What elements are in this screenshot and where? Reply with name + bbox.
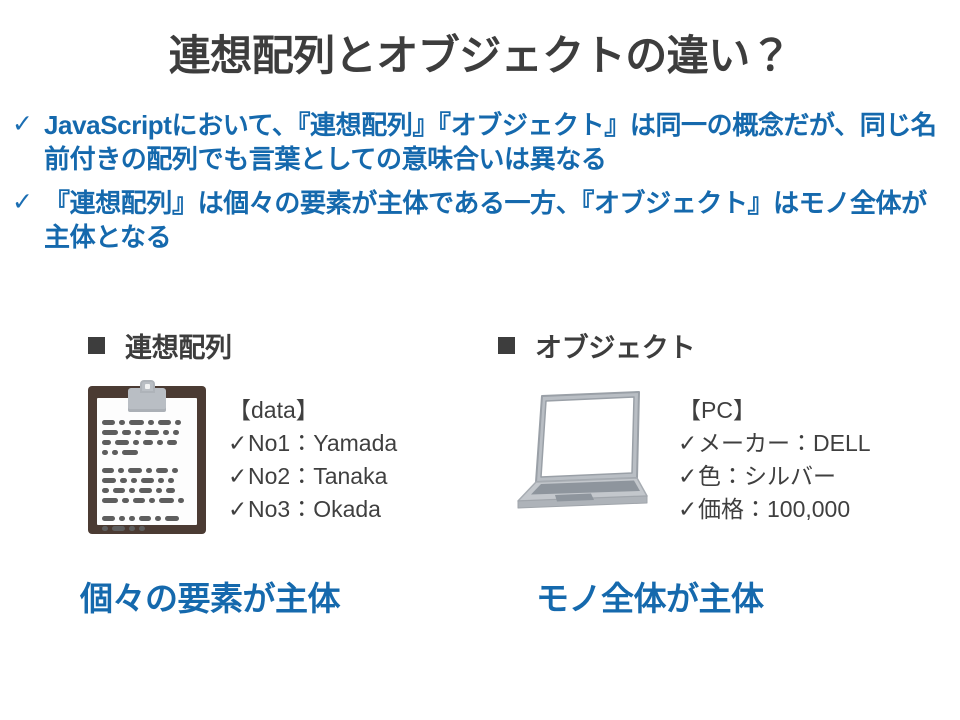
bullet-item: ✓ 『連想配列』は個々の要素が主体である一方、『オブジェクト』はモノ全体が主体と… [12, 186, 952, 254]
bullet-list: ✓ JavaScriptにおいて、『連想配列』『オブジェクト』は同一の概念だが、… [12, 108, 952, 264]
spec-item-label: 価格：100,000 [698, 496, 850, 522]
spec-item-label: No2：Tanaka [248, 463, 387, 489]
caption-object: モノ全体が主体 [536, 572, 764, 620]
spec-item: ✓No1：Yamada [228, 427, 397, 460]
column-heading-label: 連想配列 [125, 326, 232, 365]
caption-associative-array: 個々の要素が主体 [80, 572, 340, 620]
square-bullet-icon [88, 337, 105, 354]
spec-title: 【data】 [228, 394, 397, 427]
laptop-icon [498, 386, 648, 514]
spec-item: ✓No2：Tanaka [228, 460, 397, 493]
clipboard-icon [88, 386, 206, 534]
bullet-text: JavaScriptにおいて、『連想配列』『オブジェクト』は同一の概念だが、同じ… [44, 108, 952, 176]
spec-item-label: No3：Okada [248, 496, 381, 522]
column-associative-array: 連想配列 [88, 326, 232, 365]
spec-list: 【PC】 ✓メーカー：DELL ✓色：シルバー ✓価格：100,000 [678, 386, 871, 526]
column-heading: オブジェクト [498, 326, 695, 365]
spec-item-label: No1：Yamada [248, 430, 397, 456]
check-icon: ✓ [678, 427, 698, 460]
column-object: オブジェクト [498, 326, 695, 365]
spec-item: ✓価格：100,000 [678, 493, 871, 526]
slide: 連想配列とオブジェクトの違い？ ✓ JavaScriptにおいて、『連想配列』『… [0, 0, 960, 720]
spec-title: 【PC】 [678, 394, 871, 427]
column-body: 【PC】 ✓メーカー：DELL ✓色：シルバー ✓価格：100,000 [498, 386, 871, 526]
spec-list: 【data】 ✓No1：Yamada ✓No2：Tanaka ✓No3：Okad… [228, 386, 397, 526]
column-heading-label: オブジェクト [535, 326, 695, 365]
check-icon: ✓ [12, 186, 44, 218]
check-icon: ✓ [228, 493, 248, 526]
bullet-item: ✓ JavaScriptにおいて、『連想配列』『オブジェクト』は同一の概念だが、… [12, 108, 952, 176]
column-heading: 連想配列 [88, 326, 232, 365]
spec-item: ✓色：シルバー [678, 460, 871, 493]
square-bullet-icon [498, 337, 515, 354]
check-icon: ✓ [228, 427, 248, 460]
column-body: 【data】 ✓No1：Yamada ✓No2：Tanaka ✓No3：Okad… [88, 386, 397, 534]
spec-item-label: メーカー：DELL [698, 430, 871, 456]
check-icon: ✓ [12, 108, 44, 140]
bullet-text: 『連想配列』は個々の要素が主体である一方、『オブジェクト』はモノ全体が主体となる [44, 186, 952, 254]
spec-item: ✓No3：Okada [228, 493, 397, 526]
spec-item: ✓メーカー：DELL [678, 427, 871, 460]
spec-item-label: 色：シルバー [698, 463, 836, 489]
check-icon: ✓ [678, 493, 698, 526]
check-icon: ✓ [228, 460, 248, 493]
page-title: 連想配列とオブジェクトの違い？ [0, 22, 960, 83]
check-icon: ✓ [678, 460, 698, 493]
